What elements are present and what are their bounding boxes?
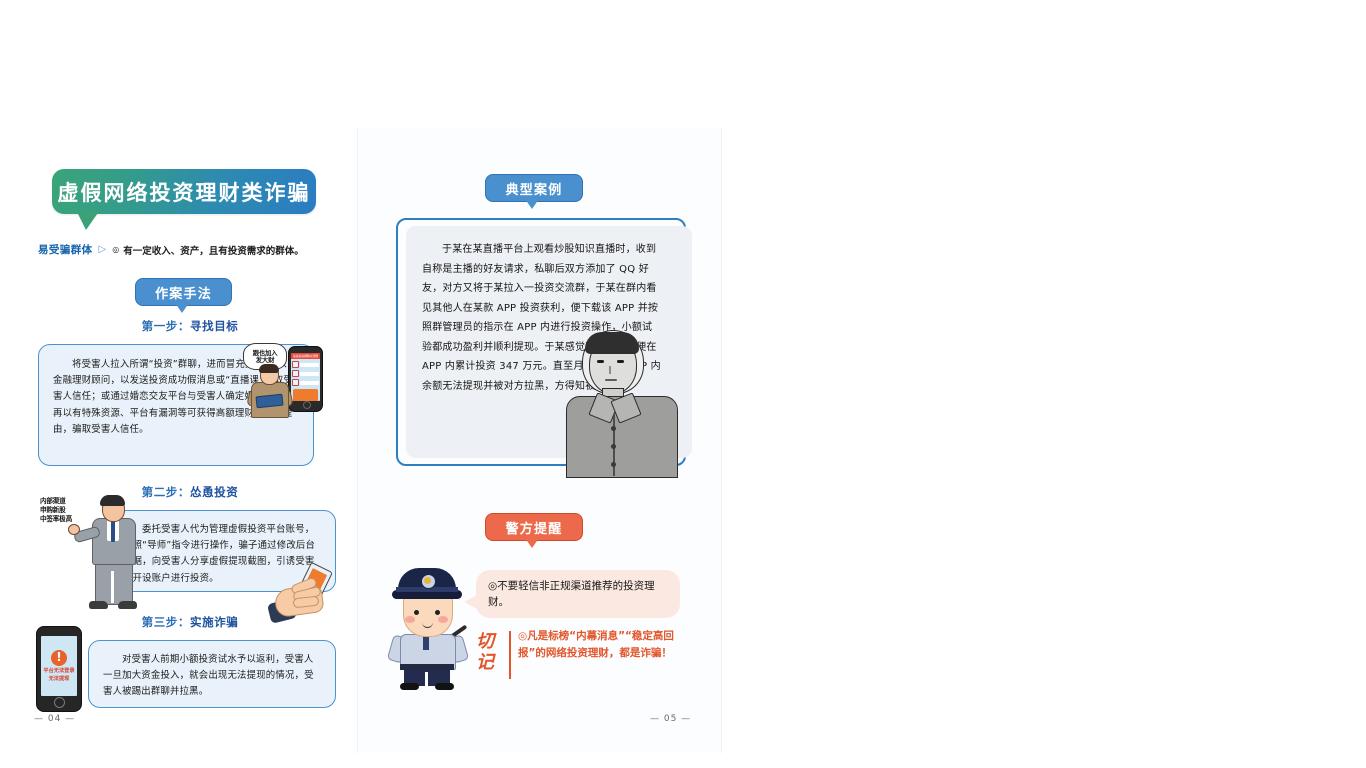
shoe-left (89, 601, 108, 609)
method-section-label: 作案手法 (155, 283, 212, 302)
scammer-man-illustration (246, 365, 292, 417)
bullet-icon: ◎ (488, 580, 497, 592)
step-3-name: 实施诈骗 (190, 615, 238, 629)
poster-title-banner: 虚假网络投资理财类诈骗 (52, 169, 316, 214)
page-title: 虚假网络投资理财类诈骗 (58, 177, 311, 207)
step-1-title: 第一步：寻找目标 (30, 318, 350, 334)
chat-message (292, 361, 319, 368)
eye-left (414, 610, 419, 615)
hand (68, 524, 80, 535)
police-tip-text: ◎不要轻信非正规渠道推荐的投资理财。 (488, 578, 668, 611)
message-bubble (300, 381, 319, 385)
warning-line-2: 无法提现 (49, 676, 70, 683)
eye-left (597, 360, 604, 363)
hair (259, 364, 279, 373)
mentor-man-illustration (80, 495, 146, 615)
chat-group-title: 某某投资群聊交流群 (291, 353, 320, 359)
home-button-icon (303, 401, 311, 409)
leg-gap (111, 571, 114, 603)
speech-bubble-line-2: 发大财 (256, 357, 275, 364)
cheek-left (405, 616, 415, 623)
message-bubble (300, 363, 319, 367)
step-2-keywords: 内部渠道 申购新股 中签率极高 (40, 497, 72, 524)
chat-message (292, 370, 319, 377)
police-tip-body: 不要轻信非正规渠道推荐的投资理财。 (488, 580, 655, 608)
step-1-number: 第一步： (142, 319, 190, 333)
poster-page: 虚假网络投资理财类诈骗 易受骗群体 ▷ ◎ 有一定收入、资产，且有投资需求的群体… (0, 0, 1366, 768)
keyword-1: 内部渠道 (40, 497, 72, 506)
avatar (292, 379, 299, 386)
police-section-pill: 警方提醒 (485, 513, 583, 541)
police-section-label: 警方提醒 (506, 518, 563, 537)
cap-badge-center (424, 577, 431, 584)
chat-message (292, 379, 319, 386)
page-number-left: — 04 — (34, 714, 75, 724)
eye-right (435, 610, 440, 615)
step-2-name: 怂恿投资 (190, 485, 238, 499)
shoe-left (400, 683, 419, 690)
warning-phone-illustration: ! 平台无法登录 无法提现 (36, 626, 82, 712)
keyword-3: 中签率极高 (40, 515, 72, 524)
exclamation-icon: ! (51, 650, 67, 666)
warning-line-1: 平台无法登录 (43, 668, 74, 675)
target-group-text: 有一定收入、资产，且有投资需求的群体。 (123, 243, 304, 257)
step-2-title: 第二步：怂恿投资 (30, 484, 350, 500)
police-tip-bubble: ◎不要轻信非正规渠道推荐的投资理财。 (476, 570, 680, 618)
leg-gap (425, 672, 428, 686)
shoe-right (118, 601, 137, 609)
bullet-icon: ◎ (112, 245, 119, 254)
legs (95, 561, 133, 605)
hand-holding-phone-illustration (275, 565, 337, 625)
remember-body: 凡是标榜“内幕消息”“稳定高回报”的网络投资理财，都是诈骗！ (518, 630, 674, 659)
target-group-label: 易受骗群体 (38, 242, 93, 257)
mouth (605, 379, 617, 381)
case-section-pill: 典型案例 (485, 174, 583, 202)
step-2-number: 第二步： (142, 485, 190, 499)
keyword-2: 申购新股 (40, 506, 72, 515)
triangle-right-icon: ▷ (99, 244, 107, 255)
shoe-right (435, 683, 454, 690)
promo-card (293, 389, 318, 401)
chat-phone-illustration: 某某投资群聊交流群 (288, 346, 323, 412)
victim-portrait-illustration (562, 330, 680, 476)
remember-divider (509, 631, 511, 679)
method-section-pill: 作案手法 (135, 278, 232, 306)
step-3-body: 对受害人前期小额投资试水予以返利，受害人一旦加大资金投入，就会出现无法提现的情况… (103, 652, 321, 701)
shirt-button (611, 426, 616, 431)
shirt-button (611, 444, 616, 449)
avatar (292, 370, 299, 377)
chat-phone-screen: 某某投资群聊交流群 (291, 353, 320, 401)
hair (100, 495, 125, 506)
police-officer-illustration (390, 568, 466, 690)
step-1-name: 寻找目标 (190, 319, 238, 333)
hair (585, 332, 639, 354)
police-pill-tail (525, 538, 539, 548)
right-column: 典型案例 于某在某直播平台上观看炒股知识直播时，收到自称是主播的好友请求，私聊后… (380, 150, 710, 740)
cheek-right (438, 616, 448, 623)
warning-phone-screen: ! 平台无法登录 无法提现 (41, 636, 77, 696)
case-pill-tail (525, 199, 539, 209)
bullet-icon: ◎ (518, 630, 527, 642)
nose (609, 366, 611, 374)
home-button-icon (54, 697, 65, 708)
title-banner-tail (76, 210, 100, 230)
shirt-button (611, 462, 616, 467)
page-number-right: — 05 — (650, 714, 691, 724)
avatar (292, 361, 299, 368)
remember-char-1: 切 (476, 632, 502, 653)
method-pill-tail (175, 303, 189, 313)
message-bubble (300, 372, 319, 376)
remember-stamp: 切 记 (476, 632, 502, 673)
target-group-line: 易受骗群体 ▷ ◎ 有一定收入、资产，且有投资需求的群体。 (38, 242, 348, 257)
step-3-number: 第三步： (142, 615, 190, 629)
belt (400, 664, 454, 670)
remember-text: ◎凡是标榜“内幕消息”“稳定高回报”的网络投资理财，都是诈骗！ (518, 628, 686, 662)
remember-char-2: 记 (476, 653, 502, 674)
eye-right (617, 360, 624, 363)
step-3-card: 对受害人前期小额投资试水予以返利，受害人一旦加大资金投入，就会出现无法提现的情况… (88, 640, 336, 708)
case-section-label: 典型案例 (506, 179, 563, 198)
tie (111, 521, 115, 542)
